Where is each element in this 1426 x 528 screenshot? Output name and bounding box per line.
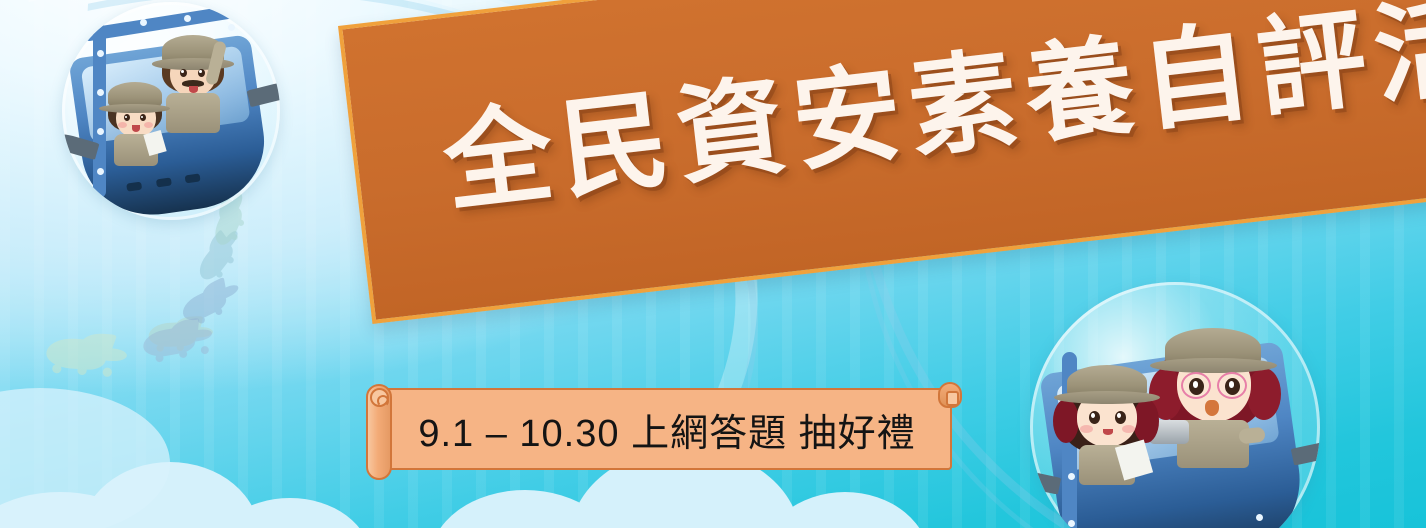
promotional-banner: 全民資安素養自評活動 9.1 – 10.30 上網答題 抽好禮 [0, 0, 1426, 528]
page-title: 全民資安素養自評活動 [353, 0, 1426, 228]
event-period-text: 9.1 – 10.30 上網答題 抽好禮 [384, 388, 950, 470]
subtitle-scroll-box: 9.1 – 10.30 上網答題 抽好禮 [366, 382, 966, 477]
character-explorer-girl [1065, 363, 1193, 525]
character-explorer-child [106, 80, 193, 193]
illustration-explorers-top-left [62, 2, 280, 220]
